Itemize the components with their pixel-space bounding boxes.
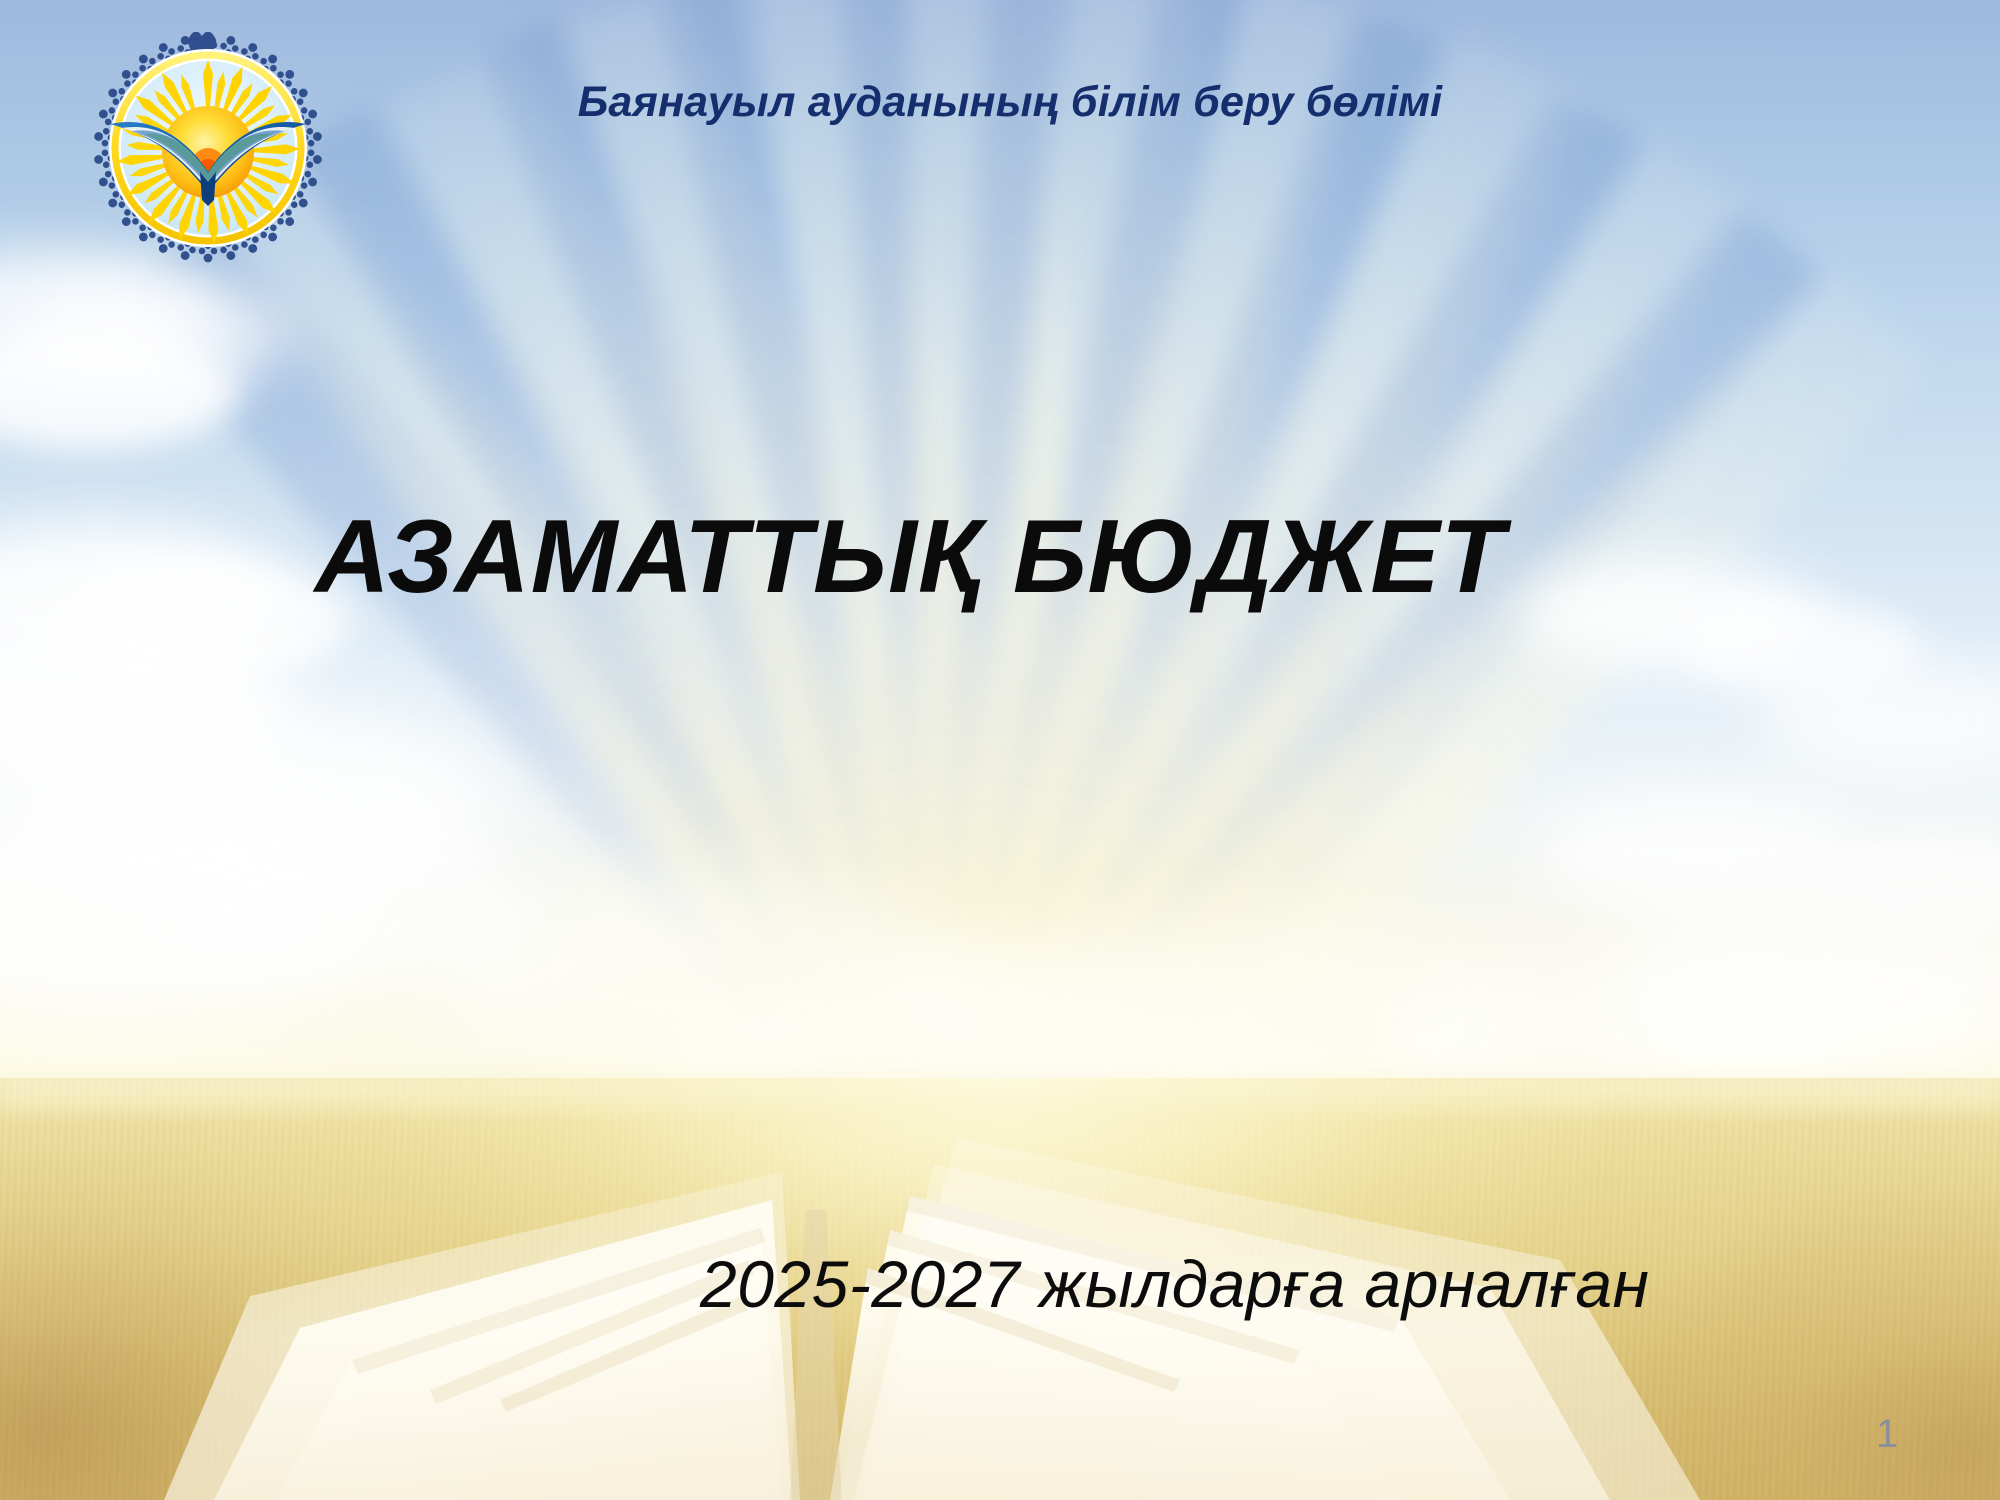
education-department-logo (92, 32, 324, 264)
presentation-slide: Баянауыл ауданының білім беру бөлімі АЗА… (0, 0, 2000, 1500)
subtitle-years: 2025-2027 жылдарға арналған (700, 1246, 1900, 1322)
page-title: АЗАМАТТЫҚ БЮДЖЕТ (260, 498, 1560, 617)
department-header-title: Баянауыл ауданының білім беру бөлімі (560, 78, 1460, 127)
slide-number: 1 (1876, 1412, 1898, 1457)
